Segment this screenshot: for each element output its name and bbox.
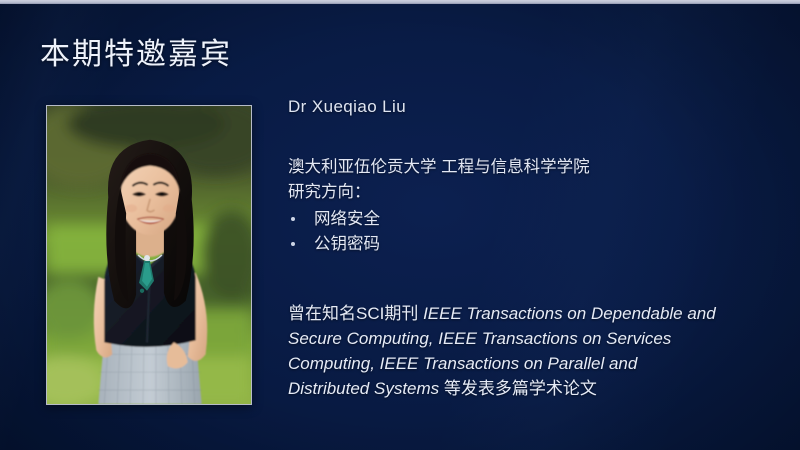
list-item: 网络安全 — [288, 207, 758, 232]
publications-prefix: 曾在知名SCI期刊 — [288, 304, 423, 323]
research-area-label: 公钥密码 — [314, 235, 380, 253]
bullet-dot-icon — [291, 242, 295, 246]
guest-name: Dr Xueqiao Liu — [288, 96, 758, 118]
portrait-illustration — [47, 106, 251, 404]
page-title: 本期特邀嘉宾 — [40, 36, 232, 74]
top-edge-strip — [0, 0, 800, 4]
publications-paragraph: 曾在知名SCI期刊 IEEE Transactions on Dependabl… — [288, 301, 716, 401]
research-areas-label: 研究方向： — [288, 180, 758, 205]
guest-affiliation: 澳大利亚伍伦贡大学 工程与信息科学学院 — [288, 155, 758, 180]
presentation-slide: 本期特邀嘉宾 — [0, 0, 800, 450]
guest-info-column: Dr Xueqiao Liu 澳大利亚伍伦贡大学 工程与信息科学学院 研究方向：… — [288, 96, 758, 401]
guest-portrait-photo — [46, 105, 252, 405]
research-areas-list: 网络安全 公钥密码 — [288, 207, 758, 257]
bullet-dot-icon — [291, 217, 295, 221]
publications-suffix: 等发表多篇学术论文 — [439, 379, 597, 398]
list-item: 公钥密码 — [288, 232, 758, 257]
research-area-label: 网络安全 — [314, 210, 380, 228]
